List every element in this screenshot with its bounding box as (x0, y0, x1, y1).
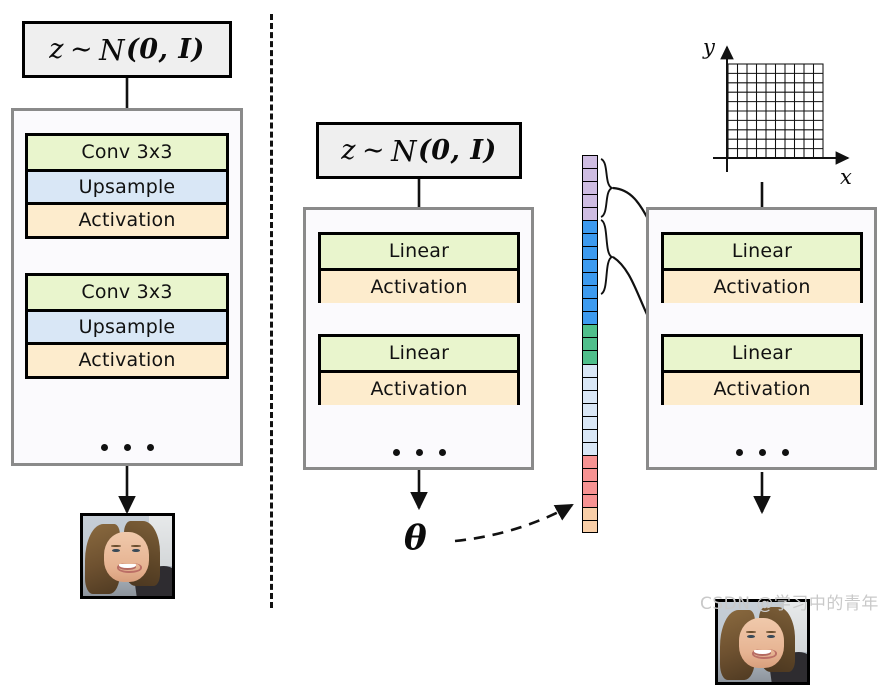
vector-cell (582, 194, 598, 207)
mlp-block-1: Linear Activation (318, 232, 520, 303)
theta-parameter-vector (582, 155, 598, 533)
mlp-ellipsis (393, 448, 446, 456)
vector-cell (582, 455, 598, 468)
generated-face-left (80, 513, 175, 599)
vector-cell (582, 416, 598, 429)
vector-cell (582, 481, 598, 494)
vector-cell (582, 285, 598, 298)
vector-cell (582, 429, 598, 442)
layer-upsample: Upsample (28, 169, 226, 202)
vector-cell (582, 155, 598, 168)
vector-cell (582, 298, 598, 311)
conv-block-1: Conv 3x3 Upsample Activation (25, 133, 229, 239)
vector-cell (582, 507, 598, 520)
vector-cell (582, 520, 598, 533)
conv-block-2: Conv 3x3 Upsample Activation (25, 273, 229, 379)
layer-conv-3x3: Conv 3x3 (28, 276, 226, 309)
vector-cell (582, 442, 598, 455)
layer-activation: Activation (321, 268, 517, 303)
vector-cell (582, 364, 598, 377)
normal-dist-args: (0, I) (126, 34, 205, 65)
layer-activation: Activation (28, 342, 226, 376)
vector-cell (582, 377, 598, 390)
distributed-as-symbol: ∼ (64, 34, 99, 65)
vector-cell (582, 468, 598, 481)
layer-upsample: Upsample (28, 309, 226, 342)
figure-canvas: z ∼ N (0, I) Conv 3x3 Upsample Activatio… (0, 0, 896, 621)
normal-dist-symbol: N (391, 134, 418, 168)
distributed-as-symbol: ∼ (356, 135, 391, 166)
vector-cell (582, 494, 598, 507)
vector-cell (582, 350, 598, 363)
csdn-watermark: CSDN @学习中的青年 (700, 589, 879, 614)
layer-activation: Activation (664, 268, 860, 303)
vector-cell (582, 168, 598, 181)
vector-cell (582, 272, 598, 285)
latent-z-symbol: z (49, 34, 64, 65)
axis-label-x: x (840, 165, 852, 189)
latent-z-symbol: z (341, 135, 356, 166)
vector-cell (582, 259, 598, 272)
vector-cell (582, 311, 598, 324)
vector-cell (582, 233, 598, 246)
layer-linear: Linear (664, 235, 860, 268)
mlp-block-2: Linear Activation (318, 334, 520, 405)
vector-cell (582, 324, 598, 337)
implicit-ellipsis (736, 448, 789, 456)
latent-box-middle: z ∼ N (0, I) (316, 122, 522, 179)
conv-ellipsis (101, 443, 154, 451)
section-divider (270, 14, 273, 608)
normal-dist-symbol: N (99, 33, 126, 67)
implicit-block-2: Linear Activation (661, 334, 863, 405)
layer-activation: Activation (28, 202, 226, 236)
vector-cell (582, 181, 598, 194)
vector-cell (582, 403, 598, 416)
vector-cell (582, 390, 598, 403)
vector-cell (582, 337, 598, 350)
layer-linear: Linear (664, 337, 860, 370)
layer-linear: Linear (321, 337, 517, 370)
latent-box-left: z ∼ N (0, I) (22, 21, 232, 78)
layer-activation: Activation (664, 370, 860, 405)
theta-output-symbol: θ (404, 518, 427, 558)
implicit-block-1: Linear Activation (661, 232, 863, 303)
layer-activation: Activation (321, 370, 517, 405)
vector-cell (582, 246, 598, 259)
layer-conv-3x3: Conv 3x3 (28, 136, 226, 169)
axis-label-y: y (703, 35, 715, 59)
normal-dist-args: (0, I) (418, 135, 497, 166)
vector-cell (582, 220, 598, 233)
vector-cell (582, 207, 598, 220)
layer-linear: Linear (321, 235, 517, 268)
